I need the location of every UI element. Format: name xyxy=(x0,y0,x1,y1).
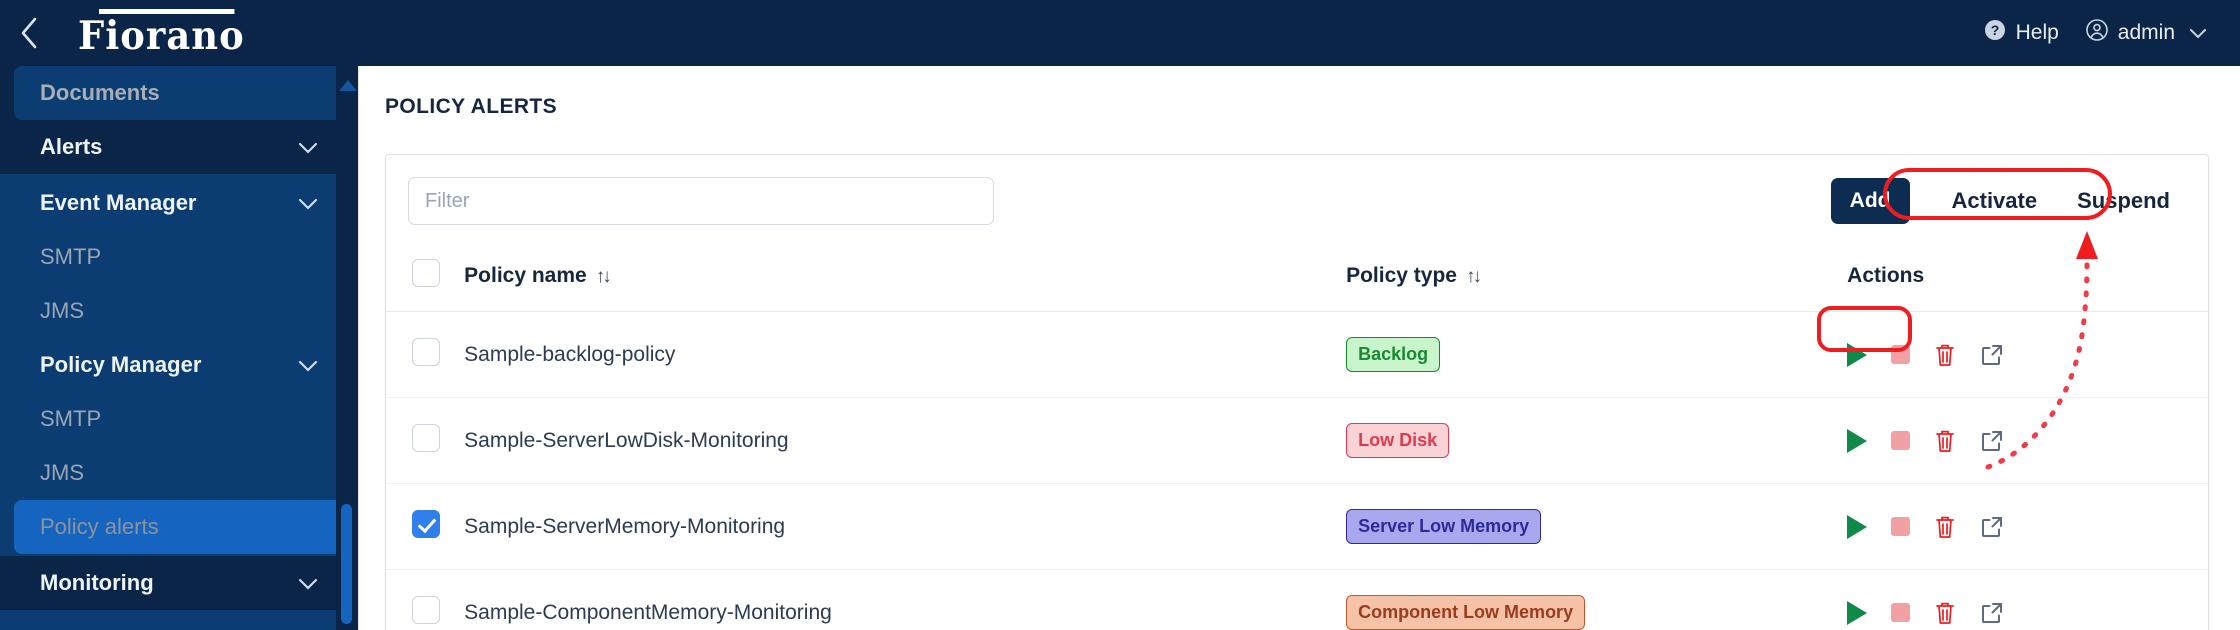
status-badge: Server Low Memory xyxy=(1346,509,1541,544)
sidebar-item-label: JMS xyxy=(40,298,84,324)
status-badge: Backlog xyxy=(1346,337,1440,372)
open-external-icon[interactable] xyxy=(1980,601,2004,625)
row-select-cell xyxy=(386,570,464,630)
table-toolbar: Add Activate Suspend xyxy=(386,155,2208,245)
delete-icon[interactable] xyxy=(1934,428,1956,454)
sidebar-item-label: Policy Manager xyxy=(40,352,201,378)
row-actions-cell xyxy=(1847,312,2208,398)
sidebar-item-documents[interactable]: Documents xyxy=(14,66,344,120)
delete-icon[interactable] xyxy=(1934,600,1956,626)
policy-type-cell: Backlog xyxy=(1346,312,1847,398)
sidebar-nav: Documents Alerts Event Manager SMTP JMS xyxy=(0,66,358,630)
table-body: Sample-backlog-policy Backlog xyxy=(386,312,2208,630)
row-actions xyxy=(1847,514,2208,540)
table-header-row: Policy name↑↓ Policy type↑↓ Actions xyxy=(386,245,2208,312)
chevron-down-icon xyxy=(298,570,318,596)
filter-input[interactable] xyxy=(408,177,994,225)
sidebar-item-policy-jms[interactable]: JMS xyxy=(14,446,344,500)
header-actions: ? Help admin xyxy=(1983,18,2240,48)
delete-icon[interactable] xyxy=(1934,342,1956,368)
start-icon[interactable] xyxy=(1847,601,1867,625)
status-badge: Component Low Memory xyxy=(1346,595,1585,630)
policy-type-header-label: Policy type xyxy=(1346,264,1457,287)
toolbar-actions: Add Activate Suspend xyxy=(1831,178,2184,224)
help-button[interactable]: ? Help xyxy=(1983,18,2059,48)
start-icon[interactable] xyxy=(1847,429,1867,453)
sidebar-item-label: Alerts xyxy=(40,134,102,160)
policy-name-header[interactable]: Policy name↑↓ xyxy=(464,245,1346,312)
sidebar-item-event-manager[interactable]: Event Manager xyxy=(14,176,344,230)
row-actions xyxy=(1847,600,2208,626)
question-circle-icon: ? xyxy=(1983,18,2007,48)
sidebar-item-applications[interactable]: Applications xyxy=(14,612,344,630)
stop-icon[interactable] xyxy=(1891,345,1910,364)
table-row[interactable]: Sample-ServerMemory-Monitoring Server Lo… xyxy=(386,484,2208,570)
start-icon[interactable] xyxy=(1847,343,1867,367)
status-badge: Low Disk xyxy=(1346,423,1449,458)
chevron-down-icon xyxy=(298,134,318,160)
policy-name-cell: Sample-backlog-policy xyxy=(464,312,1346,398)
sidebar-item-label: JMS xyxy=(40,460,84,486)
activate-suspend-group: Activate Suspend xyxy=(1938,188,2185,214)
app-root: Fiorano ? Help xyxy=(0,0,2240,630)
sidebar-item-monitoring[interactable]: Monitoring xyxy=(14,556,344,610)
row-actions-cell xyxy=(1847,570,2208,630)
scroll-up-arrow-icon[interactable] xyxy=(339,80,357,91)
stop-icon[interactable] xyxy=(1891,603,1910,622)
brand-name: Fiorano xyxy=(78,7,245,59)
sidebar-item-label: Event Manager xyxy=(40,190,197,216)
svg-text:?: ? xyxy=(1990,22,1999,38)
start-icon[interactable] xyxy=(1847,515,1867,539)
policy-name-cell: Sample-ComponentMemory-Monitoring xyxy=(464,570,1346,630)
sidebar-item-event-jms[interactable]: JMS xyxy=(14,284,344,338)
stop-icon[interactable] xyxy=(1891,431,1910,450)
table-header: Policy name↑↓ Policy type↑↓ Actions xyxy=(386,245,2208,312)
sidebar-item-label: Policy alerts xyxy=(40,514,159,540)
add-button[interactable]: Add xyxy=(1831,178,1910,224)
brand-logo[interactable]: Fiorano xyxy=(78,0,237,66)
table-row[interactable]: Sample-ComponentMemory-Monitoring Compon… xyxy=(386,570,2208,630)
user-circle-icon xyxy=(2085,18,2109,48)
page-title: POLICY ALERTS xyxy=(359,66,2240,119)
policy-type-cell: Low Disk xyxy=(1346,398,1847,484)
sidebar-scrollbar[interactable] xyxy=(336,66,358,630)
sidebar-item-event-smtp[interactable]: SMTP xyxy=(14,230,344,284)
sidebar-item-alerts[interactable]: Alerts xyxy=(14,120,344,174)
policy-name-cell: Sample-ServerLowDisk-Monitoring xyxy=(464,398,1346,484)
activate-button[interactable]: Activate xyxy=(1952,188,2038,214)
row-select-cell xyxy=(386,398,464,484)
sidebar-item-label: Documents xyxy=(40,80,160,106)
stop-icon[interactable] xyxy=(1891,517,1910,536)
policy-name-header-label: Policy name xyxy=(464,264,587,287)
row-actions-cell xyxy=(1847,484,2208,570)
delete-icon[interactable] xyxy=(1934,514,1956,540)
sidebar-item-policy-manager[interactable]: Policy Manager xyxy=(14,338,344,392)
back-chevron-icon[interactable] xyxy=(0,16,58,50)
sort-updown-icon[interactable]: ↑↓ xyxy=(596,266,609,287)
sidebar-group-monitoring: Applications Destinations xyxy=(0,610,358,630)
policy-type-cell: Server Low Memory xyxy=(1346,484,1847,570)
table-row[interactable]: Sample-ServerLowDisk-Monitoring Low Disk xyxy=(386,398,2208,484)
sidebar-item-policy-alerts[interactable]: Policy alerts xyxy=(14,500,344,554)
row-checkbox[interactable] xyxy=(412,338,440,366)
row-actions xyxy=(1847,428,2208,454)
select-all-header xyxy=(386,245,464,312)
sort-updown-icon[interactable]: ↑↓ xyxy=(1466,266,1479,287)
policy-type-header[interactable]: Policy type↑↓ xyxy=(1346,245,1847,312)
row-select-cell xyxy=(386,484,464,570)
user-label: admin xyxy=(2118,21,2175,45)
chevron-down-icon xyxy=(298,190,318,216)
help-label: Help xyxy=(2016,21,2059,45)
sidebar-group-event-manager: Event Manager SMTP JMS Policy Manager SM… xyxy=(0,174,358,556)
top-header: Fiorano ? Help xyxy=(0,0,2240,66)
table-row[interactable]: Sample-backlog-policy Backlog xyxy=(386,312,2208,398)
sidebar-item-label: SMTP xyxy=(40,244,101,270)
row-checkbox[interactable] xyxy=(412,510,440,538)
policy-alerts-card: Add Activate Suspend Policy name↑↓ xyxy=(385,154,2209,630)
main-content: POLICY ALERTS Add Activate Suspend xyxy=(358,66,2240,630)
open-external-icon[interactable] xyxy=(1980,429,2004,453)
caret-down-icon[interactable] xyxy=(2190,21,2206,45)
row-actions xyxy=(1847,342,2208,368)
scrollbar-thumb[interactable] xyxy=(341,504,352,624)
row-select-cell xyxy=(386,312,464,398)
sidebar-item-label: Applications xyxy=(40,626,172,630)
policy-type-cell: Component Low Memory xyxy=(1346,570,1847,630)
policy-table: Policy name↑↓ Policy type↑↓ Actions xyxy=(386,245,2208,630)
sidebar-item-policy-smtp[interactable]: SMTP xyxy=(14,392,344,446)
suspend-button[interactable]: Suspend xyxy=(2077,188,2170,214)
actions-header-label: Actions xyxy=(1847,264,1924,287)
open-external-icon[interactable] xyxy=(1980,343,2004,367)
chevron-down-icon xyxy=(298,352,318,378)
policy-name-cell: Sample-ServerMemory-Monitoring xyxy=(464,484,1346,570)
select-all-checkbox[interactable] xyxy=(412,259,440,287)
sidebar-item-label: SMTP xyxy=(40,406,101,432)
row-checkbox[interactable] xyxy=(412,596,440,624)
row-checkbox[interactable] xyxy=(412,424,440,452)
user-menu[interactable]: admin xyxy=(2085,18,2206,48)
sidebar-item-label: Monitoring xyxy=(40,570,154,596)
actions-header: Actions xyxy=(1847,245,2208,312)
row-actions-cell xyxy=(1847,398,2208,484)
open-external-icon[interactable] xyxy=(1980,515,2004,539)
